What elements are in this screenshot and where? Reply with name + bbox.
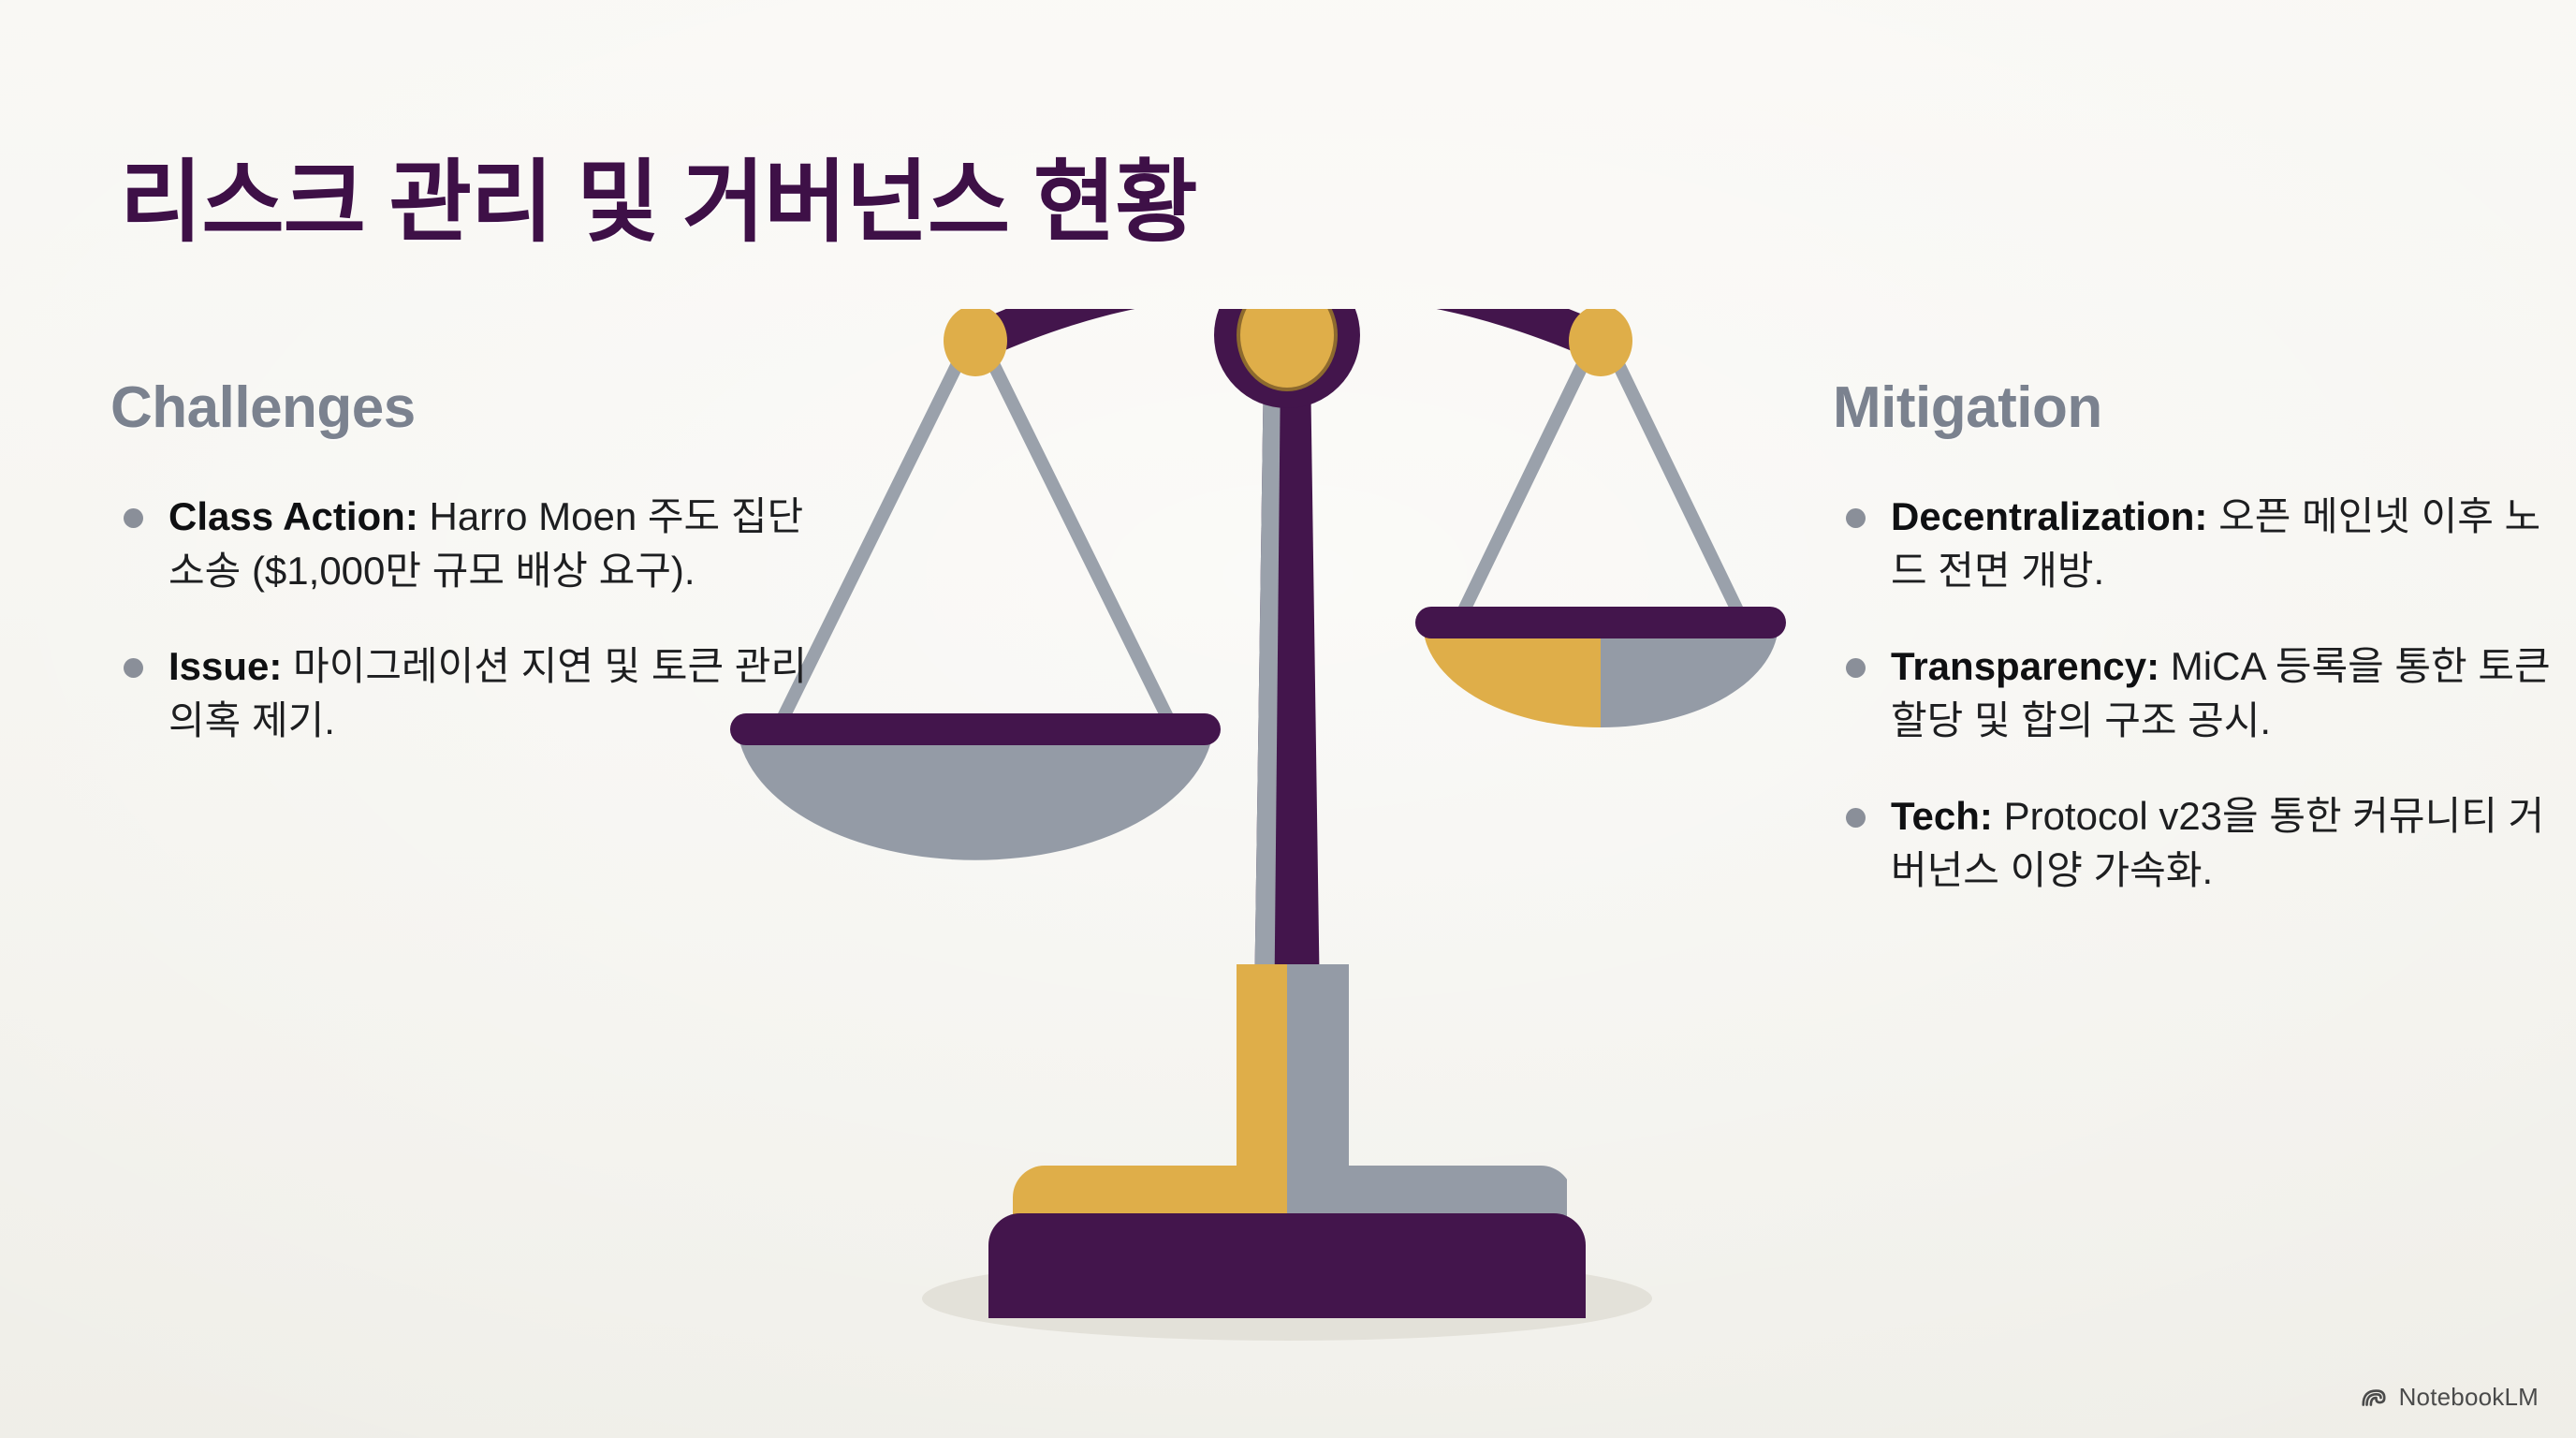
challenges-heading: Challenges (110, 374, 822, 441)
bullet-label: Transparency: (1891, 644, 2159, 688)
bullet-label: Issue: (168, 644, 282, 688)
bullet-dot-icon (124, 508, 143, 528)
list-item: Tech: Protocol v23을 통한 커뮤니티 거버넌스 이양 가속화. (1833, 789, 2563, 898)
list-item: Class Action: Harro Moen 주도 집단 소송 ($1,00… (110, 490, 822, 598)
fulcrum-hub (1214, 309, 1360, 408)
left-pan-bowl (738, 732, 1213, 860)
challenges-bullet-list: Class Action: Harro Moen 주도 집단 소송 ($1,00… (110, 490, 822, 748)
right-pan (1415, 328, 1786, 754)
bullet-dot-icon (124, 658, 143, 678)
mitigation-column: Mitigation Decentralization: 오픈 메인넷 이후 노… (1833, 374, 2563, 898)
scale-base (988, 964, 1586, 1318)
page-title: 리스크 관리 및 거버넌스 현황 (120, 129, 1197, 259)
notebooklm-watermark: NotebookLM (2360, 1383, 2539, 1412)
right-pan-rim (1415, 607, 1786, 638)
bullet-label: Class Action: (168, 494, 418, 538)
bullet-dot-icon (1846, 658, 1866, 678)
balance-scale-illustration (711, 309, 1863, 1357)
base-plinth (988, 1213, 1586, 1318)
list-item: Issue: 마이그레이션 지연 및 토큰 관리 의혹 제기. (110, 639, 822, 748)
bullet-dot-icon (1846, 808, 1866, 828)
mitigation-bullet-list: Decentralization: 오픈 메인넷 이후 노드 전면 개방. Tr… (1833, 490, 2563, 898)
bullet-dot-icon (1846, 508, 1866, 528)
notebooklm-icon (2360, 1384, 2388, 1412)
bullet-label: Decentralization: (1891, 494, 2207, 538)
mitigation-heading: Mitigation (1833, 374, 2563, 441)
watermark-label: NotebookLM (2399, 1383, 2539, 1412)
list-item: Decentralization: 오픈 메인넷 이후 노드 전면 개방. (1833, 490, 2563, 598)
slide-canvas: 리스크 관리 및 거버넌스 현황 Challenges Class Action… (0, 0, 2576, 1438)
bullet-label: Tech: (1891, 794, 1993, 838)
list-item: Transparency: MiCA 등록을 통한 토큰 할당 및 합의 구조 … (1833, 639, 2563, 748)
challenges-column: Challenges Class Action: Harro Moen 주도 집… (110, 374, 822, 748)
